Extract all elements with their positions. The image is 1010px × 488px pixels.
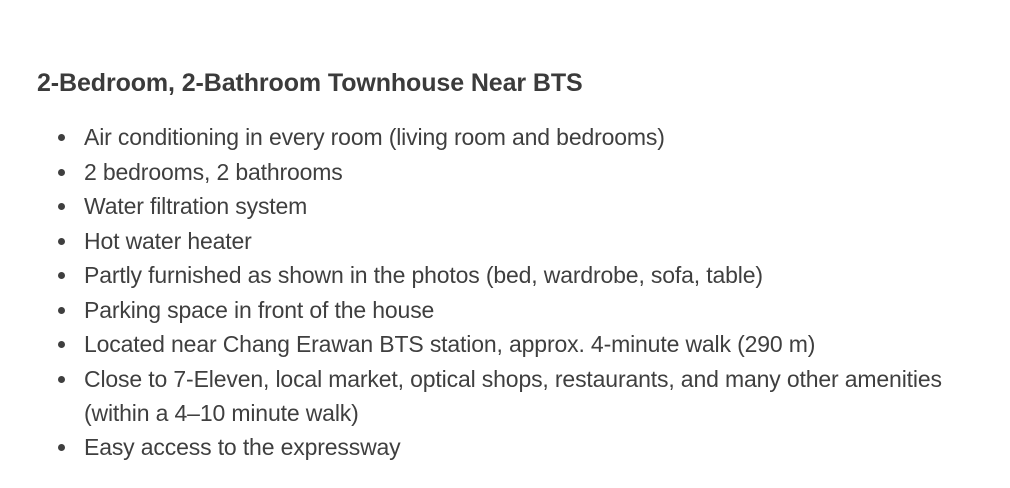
features-list: Air conditioning in every room (living r…: [37, 120, 997, 465]
list-item-label: Air conditioning in every room (living r…: [84, 120, 997, 154]
list-item: Easy access to the expressway: [37, 430, 997, 464]
listing-description-page: 2-Bedroom, 2-Bathroom Townhouse Near BTS…: [0, 0, 1010, 488]
list-item-label: Located near Chang Erawan BTS station, a…: [84, 327, 997, 361]
list-item: Air conditioning in every room (living r…: [37, 120, 997, 154]
bullet-icon: [58, 376, 65, 383]
page-title: 2-Bedroom, 2-Bathroom Townhouse Near BTS: [37, 69, 583, 98]
bullet-icon: [58, 169, 65, 176]
list-item: Hot water heater: [37, 224, 997, 258]
list-item: Close to 7-Eleven, local market, optical…: [37, 362, 997, 430]
bullet-icon: [58, 238, 65, 245]
bullet-icon: [58, 341, 65, 348]
list-item: Located near Chang Erawan BTS station, a…: [37, 327, 997, 361]
list-item-label: Close to 7-Eleven, local market, optical…: [84, 362, 964, 430]
list-item: Parking space in front of the house: [37, 293, 997, 327]
list-item: Water filtration system: [37, 189, 997, 223]
bullet-icon: [58, 307, 65, 314]
list-item-label: Partly furnished as shown in the photos …: [84, 258, 997, 292]
list-item-label: Water filtration system: [84, 189, 997, 223]
list-item-label: Parking space in front of the house: [84, 293, 997, 327]
list-item-label: Easy access to the expressway: [84, 430, 997, 464]
bullet-icon: [58, 272, 65, 279]
bullet-icon: [58, 203, 65, 210]
list-item-label: 2 bedrooms, 2 bathrooms: [84, 155, 997, 189]
list-item: Partly furnished as shown in the photos …: [37, 258, 997, 292]
list-item-label: Hot water heater: [84, 224, 997, 258]
bullet-icon: [58, 444, 65, 451]
bullet-icon: [58, 134, 65, 141]
list-item: 2 bedrooms, 2 bathrooms: [37, 155, 997, 189]
